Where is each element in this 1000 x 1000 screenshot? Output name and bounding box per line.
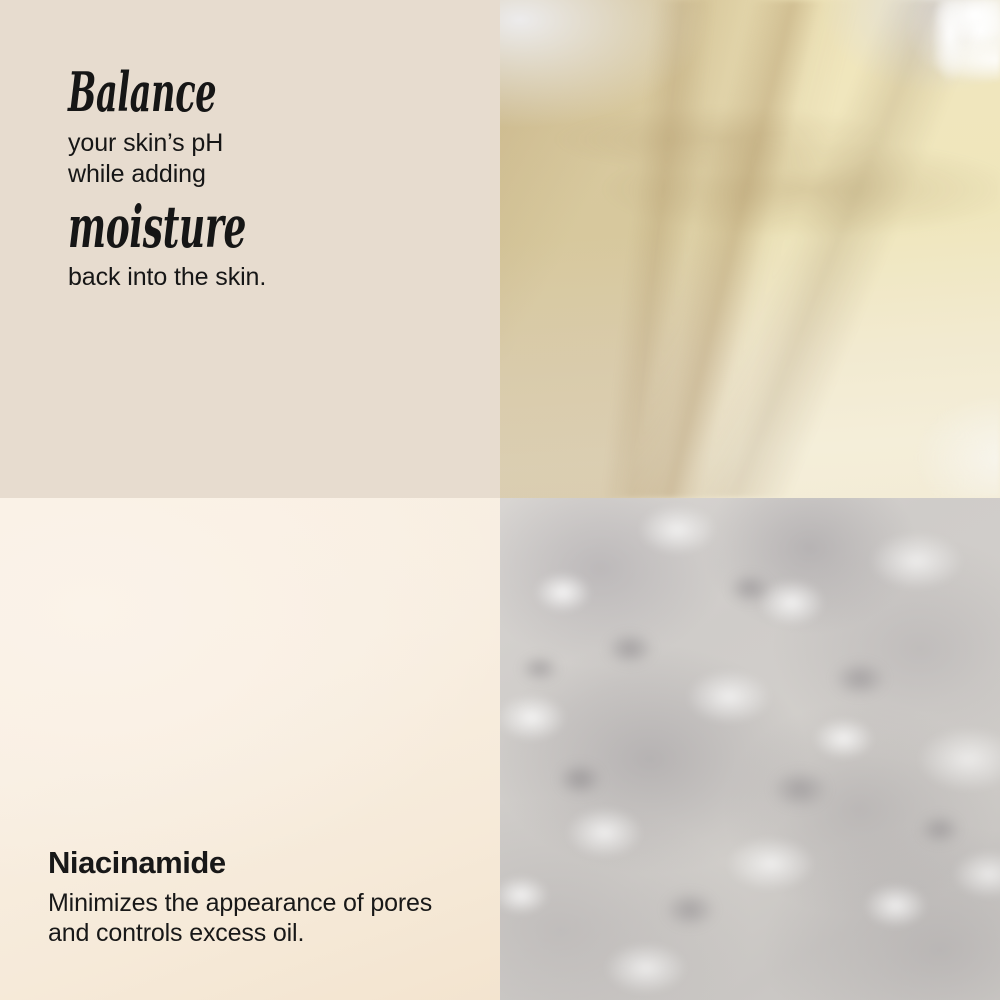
niacinamide-copy-block: Niacinamide Minimizes the appearance of … <box>48 845 468 948</box>
hero-line-1: your skin’s pH <box>68 128 355 159</box>
hero-line-3: back into the skin. <box>68 262 355 293</box>
panel-balance-hero: Balance your skin’s pH while adding mois… <box>0 0 500 498</box>
panel-anti-aging-complex: Anti-Aging & Brightening Complex Our exc… <box>500 0 1000 498</box>
hero-copy-block: Balance your skin’s pH while adding mois… <box>68 66 355 293</box>
niacinamide-body: Minimizes the appearance of pores and co… <box>48 889 468 948</box>
panel-sodium-hyaluronate: Sodium Hyaluronate Delivers intense hydr… <box>500 498 1000 1000</box>
niacinamide-title: Niacinamide <box>48 845 468 881</box>
hero-script-balance: Balance <box>68 66 246 119</box>
hero-line-2: while adding <box>68 159 355 190</box>
hero-script-moisture: moisture <box>68 199 246 256</box>
product-benefits-collage: Balance your skin’s pH while adding mois… <box>0 0 1000 1000</box>
panel-niacinamide: Niacinamide Minimizes the appearance of … <box>0 498 500 1000</box>
